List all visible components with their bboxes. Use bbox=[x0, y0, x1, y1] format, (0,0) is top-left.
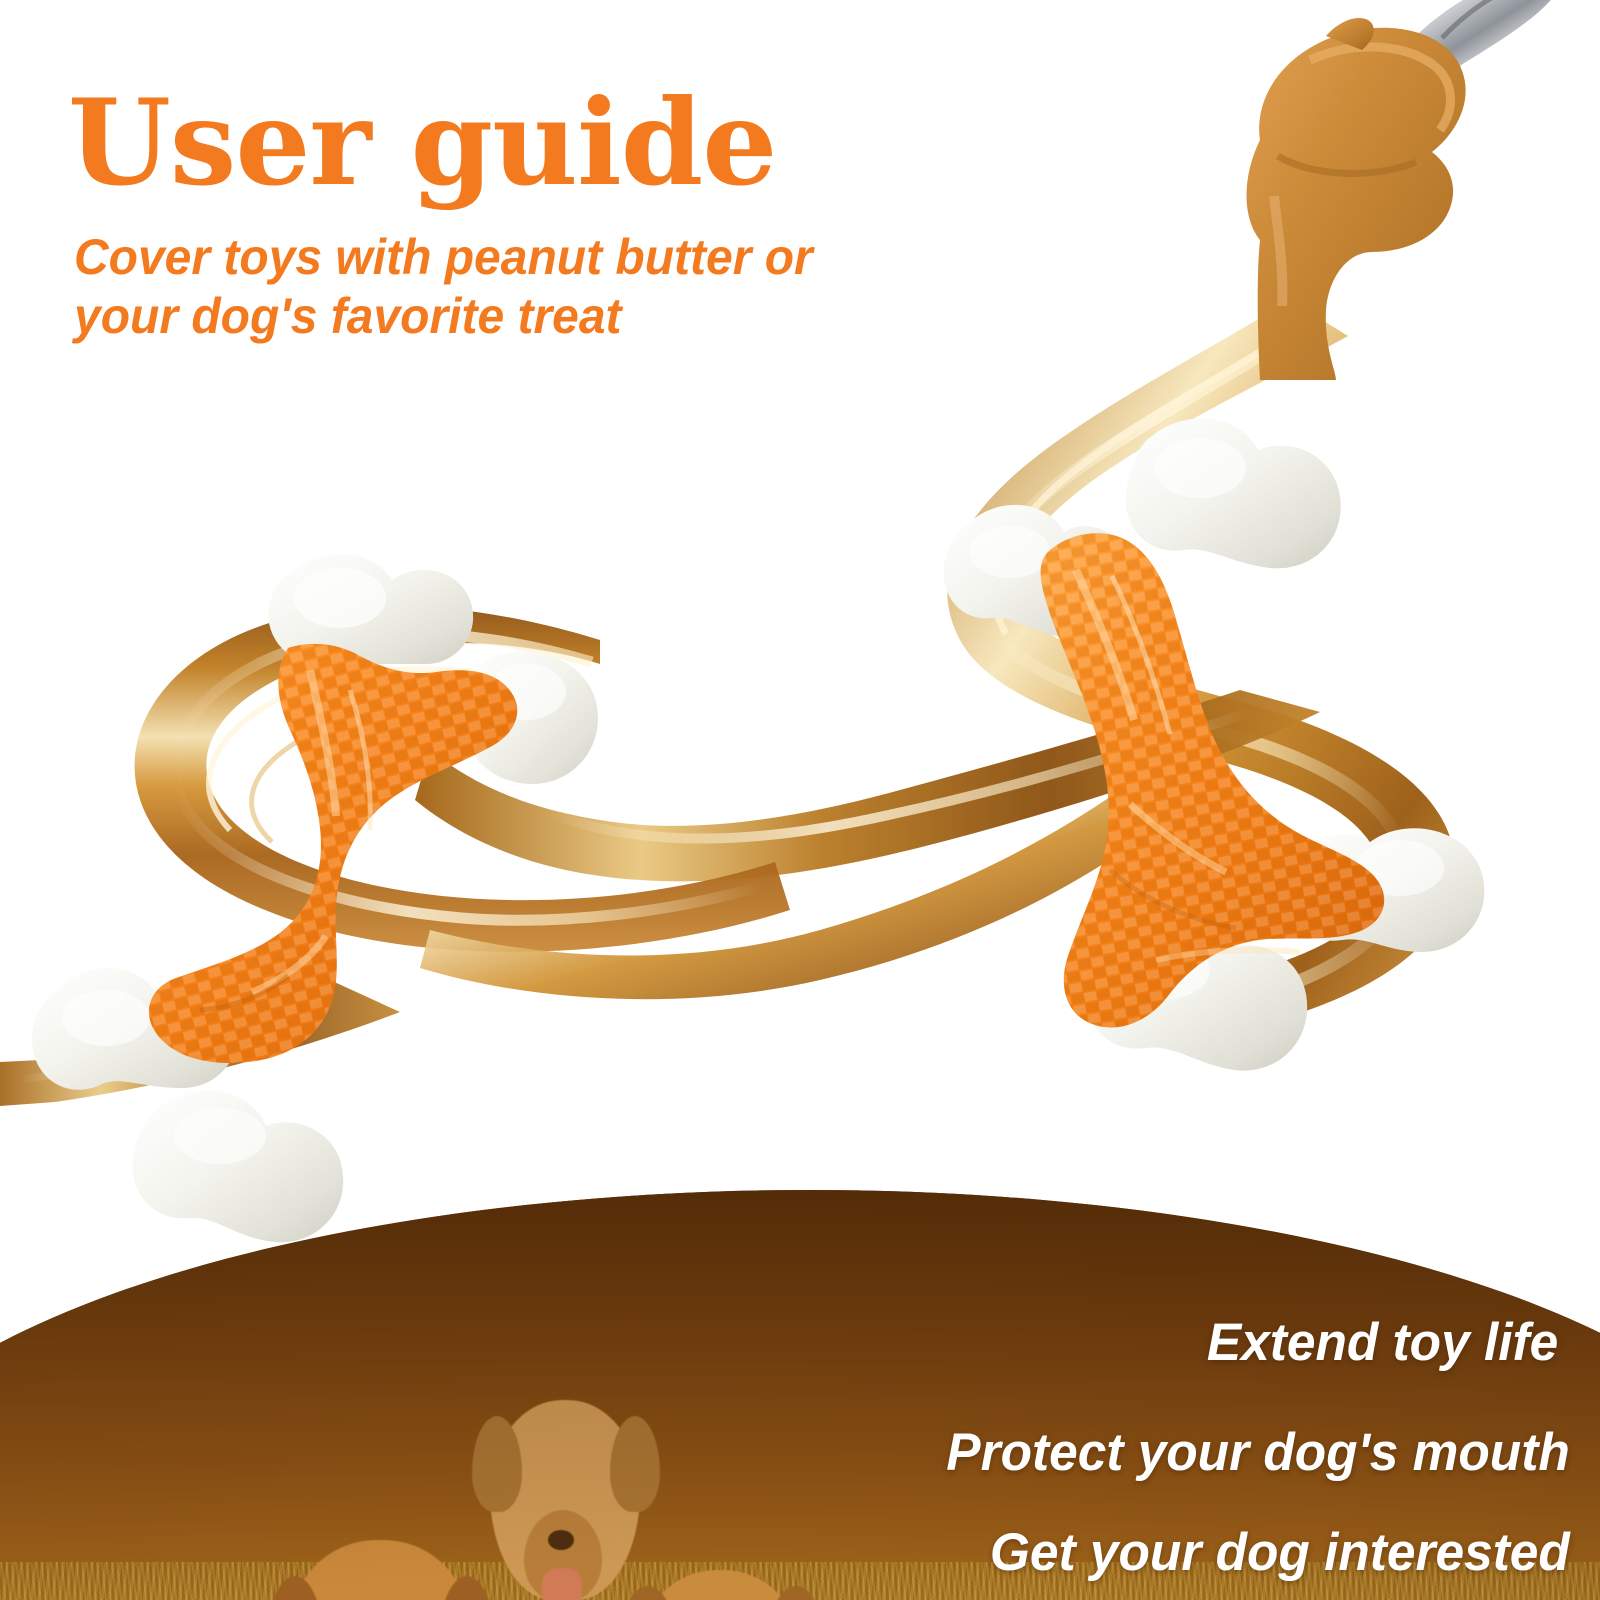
poster-canvas: User guide Cover toys with peanut butter… bbox=[0, 0, 1600, 1600]
page-title: User guide bbox=[68, 84, 968, 202]
benefit-line-protect-mouth: Protect your dog's mouth bbox=[947, 1422, 1570, 1483]
page-subtitle: Cover toys with peanut butter or your do… bbox=[74, 228, 919, 345]
dog-bone-toy-right bbox=[900, 400, 1520, 1120]
benefit-line-get-interested: Get your dog interested bbox=[990, 1522, 1570, 1583]
headline-block: User guide Cover toys with peanut butter… bbox=[68, 84, 968, 345]
benefit-line-extend-toy-life: Extend toy life bbox=[1207, 1312, 1558, 1373]
peanut-butter-spoon bbox=[1150, 0, 1600, 380]
dog-bone-toy-left bbox=[20, 540, 660, 1280]
